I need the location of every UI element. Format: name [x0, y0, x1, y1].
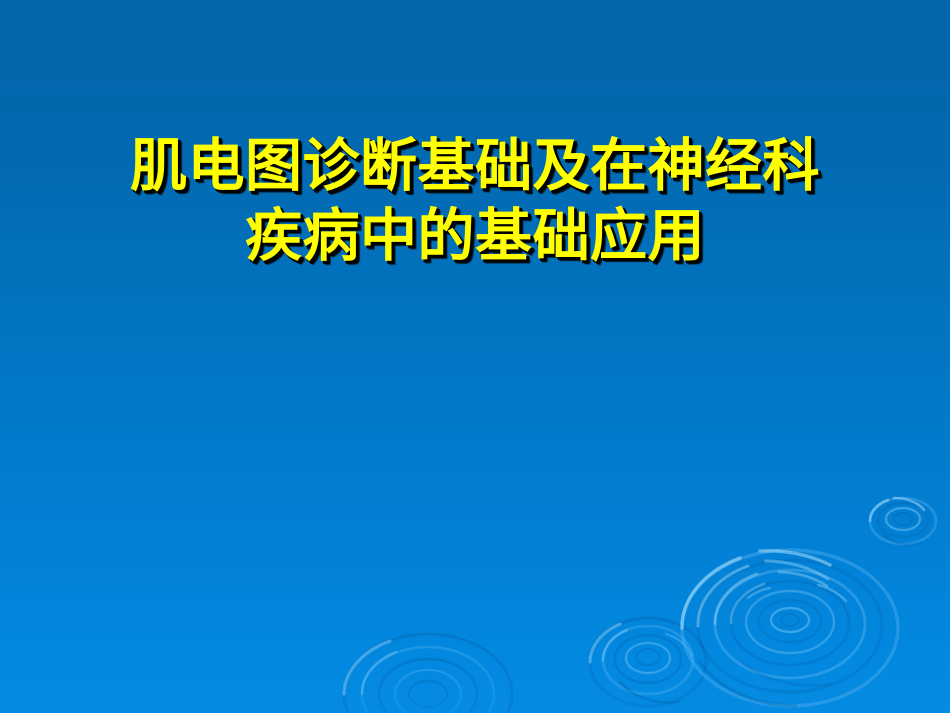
title-line-1: 肌电图诊断基础及在神经科 [0, 131, 950, 201]
presentation-slide: 肌电图诊断基础及在神经科 疾病中的基础应用 [0, 0, 950, 713]
slide-background [0, 0, 950, 713]
slide-title: 肌电图诊断基础及在神经科 疾病中的基础应用 [0, 131, 950, 271]
title-line-2: 疾病中的基础应用 [0, 201, 950, 271]
